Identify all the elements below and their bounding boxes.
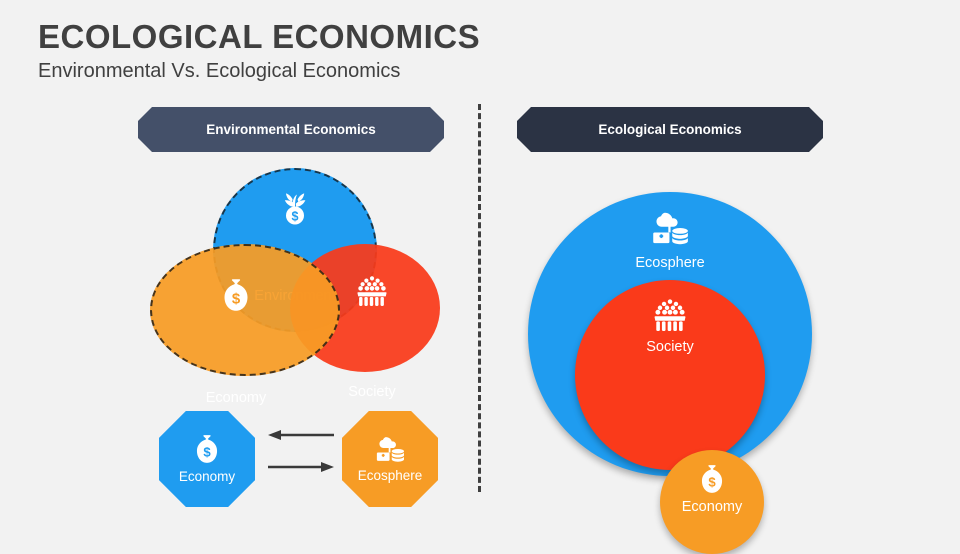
octagon-node-economy[interactable]: $ Economy: [159, 411, 255, 507]
vertical-dashed-divider: [478, 104, 481, 492]
octagon-node-ecosphere[interactable]: Ecosphere: [342, 411, 438, 507]
arrow-left: [268, 428, 334, 440]
circle-economy[interactable]: $ Economy: [660, 450, 764, 554]
circle-label-ecosphere: Ecosphere: [635, 255, 704, 271]
banner-ecological-economics[interactable]: Ecological Economics: [517, 107, 823, 152]
money-bag-icon: $: [220, 278, 252, 312]
circle-ecosphere[interactable]: Ecosphere: [528, 192, 812, 476]
venn-label-society: Society: [348, 384, 396, 400]
concentric-circles-diagram: Ecosphere: [528, 192, 812, 476]
banner-left-label: Environmental Economics: [206, 122, 376, 137]
octagon-label-economy: Economy: [179, 469, 235, 484]
banner-environmental-economics[interactable]: Environmental Economics: [138, 107, 444, 152]
octagon-label-ecosphere: Ecosphere: [358, 468, 423, 483]
money-bag-icon: $: [193, 434, 221, 464]
page-subtitle: Environmental Vs. Ecological Economics: [38, 60, 400, 83]
arrow-right: [268, 460, 334, 472]
svg-text:$: $: [203, 444, 211, 459]
svg-text:$: $: [292, 210, 299, 224]
circle-society[interactable]: Society $ Economy: [575, 280, 765, 470]
page-title: ECOLOGICAL ECONOMICS: [38, 18, 480, 56]
svg-text:$: $: [708, 474, 716, 489]
venn-diagram: Society $ Environment: [150, 168, 440, 368]
cloud-database-icon: [375, 435, 405, 463]
svg-text:$: $: [232, 291, 241, 308]
people-group-icon: [356, 276, 388, 306]
circle-label-society: Society: [646, 339, 694, 355]
circle-label-economy: Economy: [682, 499, 742, 515]
people-group-icon: [653, 299, 687, 331]
money-bag-icon: $: [698, 464, 726, 494]
venn-circle-economy[interactable]: $ Economy: [150, 244, 340, 376]
cloud-database-icon: [651, 210, 689, 246]
slide-canvas: ECOLOGICAL ECONOMICS Environmental Vs. E…: [0, 0, 960, 540]
venn-label-economy: Economy: [206, 390, 266, 406]
exchange-arrows: [268, 426, 334, 484]
banner-right-label: Ecological Economics: [598, 122, 741, 137]
plant-coin-icon: $: [277, 190, 313, 226]
